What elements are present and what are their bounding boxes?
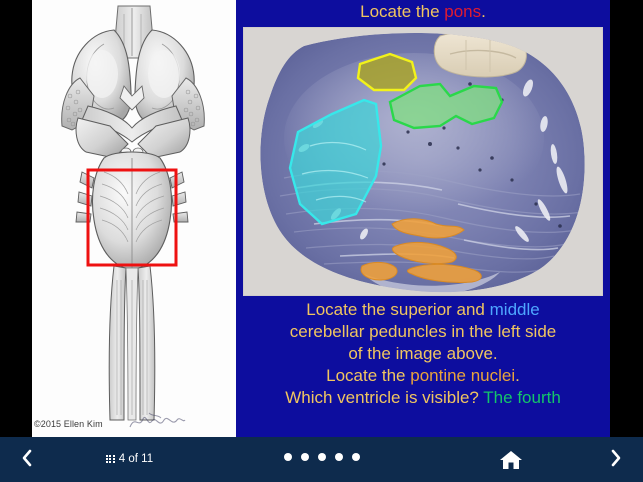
slide-title-suffix: .: [481, 2, 486, 21]
question-segment: Locate the: [326, 366, 410, 385]
chevron-right-icon: [610, 449, 622, 467]
histology-figure[interactable]: [243, 27, 603, 296]
slide-dot[interactable]: [352, 453, 360, 461]
question-text-block: Locate the superior and middle cerebella…: [236, 299, 610, 409]
slide-dot[interactable]: [318, 453, 326, 461]
brainstem-drawing: [32, 0, 236, 437]
question-line-1: Locate the superior and middle: [236, 299, 610, 321]
question-segment: Locate the superior and: [306, 300, 489, 319]
slide-dot[interactable]: [335, 453, 343, 461]
slide-title-prefix: Locate the: [360, 2, 444, 21]
question-line-3: of the image above.: [236, 343, 610, 365]
presentation-viewer: ©2015 Ellen Kim Locate the pons.: [0, 0, 643, 482]
slide-dot[interactable]: [284, 453, 292, 461]
question-segment-highlight: pontine nuclei: [410, 366, 515, 385]
copyright-notice: ©2015 Ellen Kim: [34, 419, 103, 429]
question-line-4: Locate the pontine nuclei.: [236, 365, 610, 387]
answer-text: The fourth: [483, 388, 561, 407]
home-button[interactable]: [498, 449, 524, 471]
slide-title: Locate the pons.: [236, 2, 610, 22]
slide-canvas: ©2015 Ellen Kim Locate the pons.: [0, 0, 643, 437]
question-line-2: cerebellar peduncles in the left side: [236, 321, 610, 343]
pons-section-image: [244, 28, 602, 295]
question-segment-highlight: middle: [490, 300, 540, 319]
slide-dots: [0, 453, 643, 461]
slide-content-panel: Locate the pons.: [236, 0, 610, 437]
slide-title-highlight: pons: [444, 2, 481, 21]
question-segment: of the image above.: [348, 344, 497, 363]
next-slide-button[interactable]: [606, 449, 626, 471]
illustration-panel: ©2015 Ellen Kim: [32, 0, 236, 437]
navigation-toolbar: 4 of 11: [0, 437, 643, 482]
question-segment: cerebellar peduncles in the left side: [290, 322, 557, 341]
slide-dot[interactable]: [301, 453, 309, 461]
question-segment: .: [515, 366, 520, 385]
question-segment: Which ventricle is visible?: [285, 388, 483, 407]
home-icon: [498, 449, 524, 471]
question-line-5: Which ventricle is visible? The fourth: [236, 387, 610, 409]
artist-signature: [127, 411, 187, 433]
